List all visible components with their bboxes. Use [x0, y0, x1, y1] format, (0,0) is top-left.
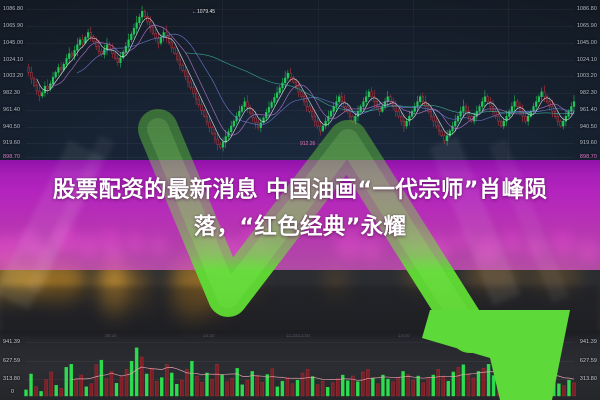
- headline-line-1: 股票配资的最新消息 中国油画“一代宗师”肖峰陨: [0, 172, 600, 209]
- headline-line-2: 落，“红色经典”永耀: [0, 209, 600, 246]
- banner-image: ←1079.45 912.26 → 1086.80 1065.90 1045.0…: [0, 0, 600, 400]
- headline: 股票配资的最新消息 中国油画“一代宗师”肖峰陨 落，“红色经典”永耀: [0, 172, 600, 246]
